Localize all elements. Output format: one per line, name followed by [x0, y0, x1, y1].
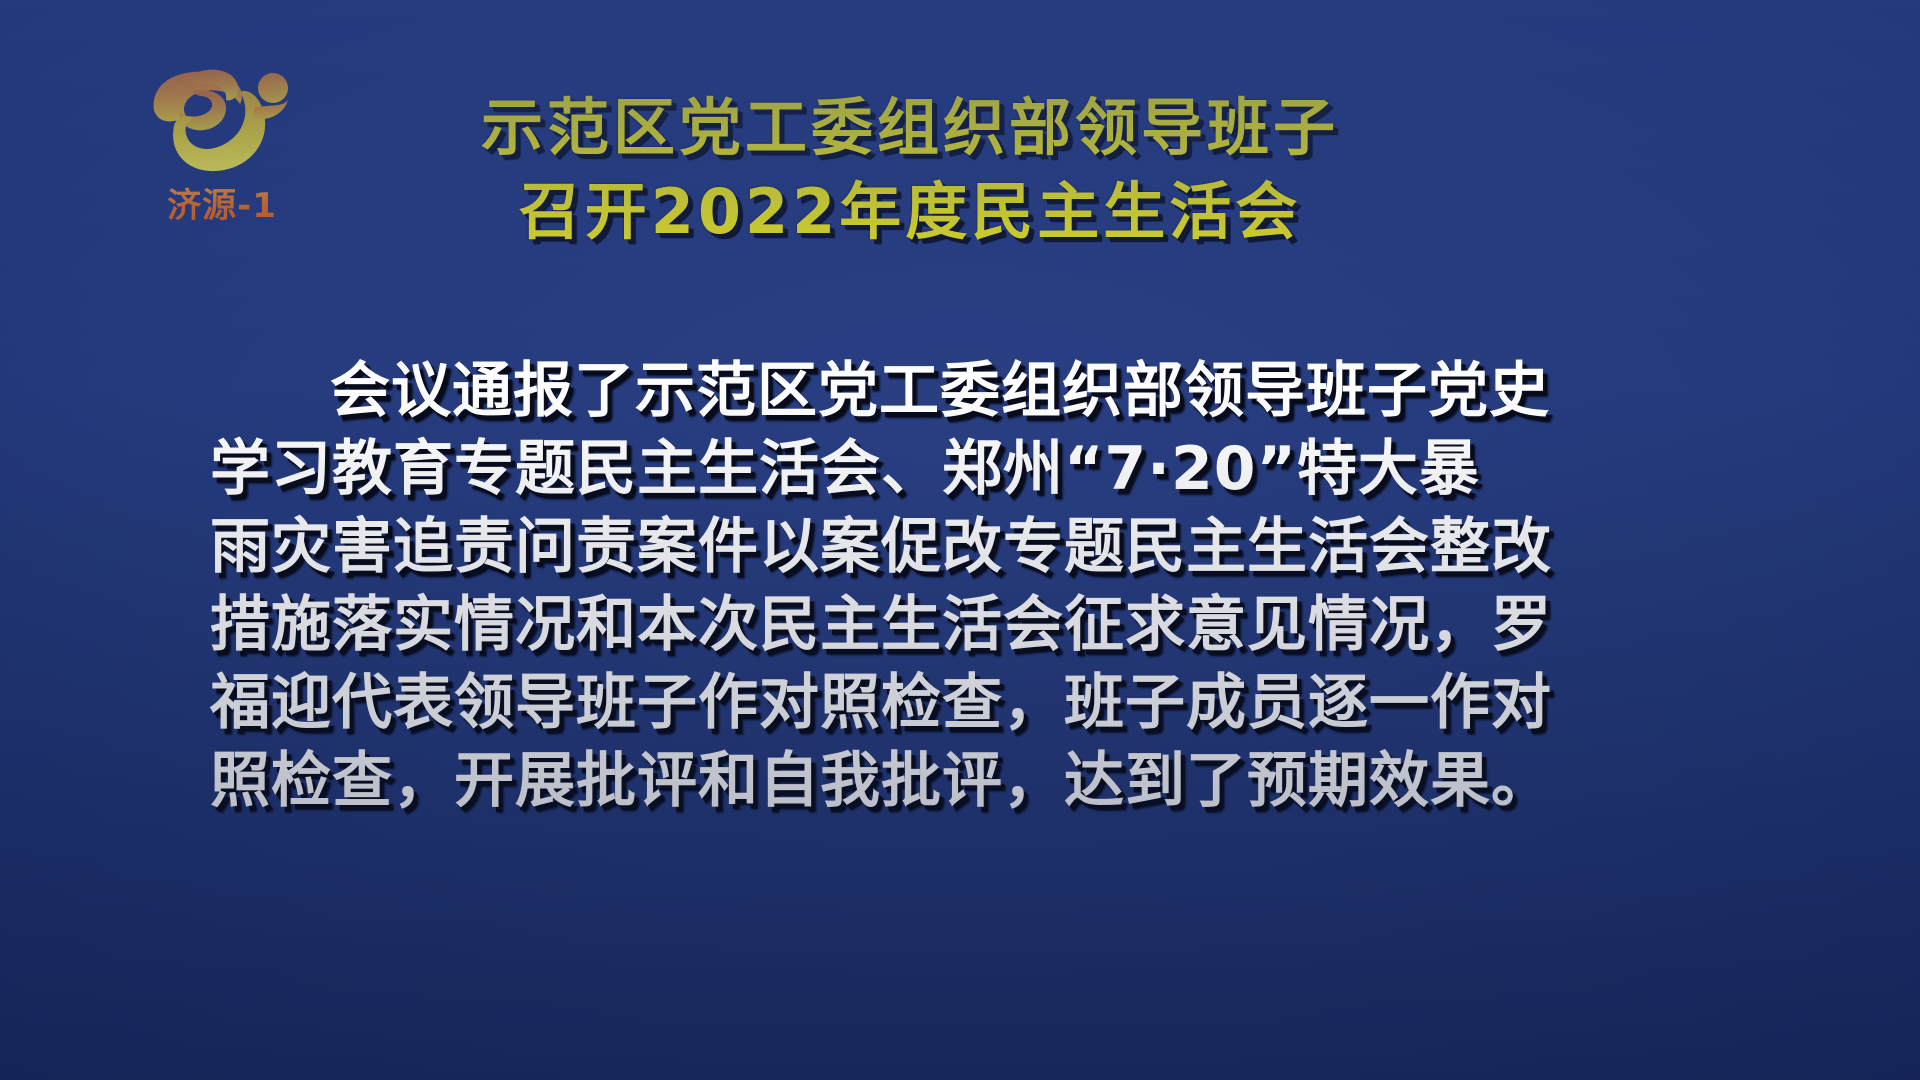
headline-line-1: 示范区党工委组织部领导班子 [330, 86, 1490, 170]
channel-logo: 济源-1 [128, 52, 316, 234]
body-paragraph: 会议通报了示范区党工委组织部领导班子党史 学习教育专题民主生活会、郑州“7·20… [210, 352, 1720, 820]
body-line: 会议通报了示范区党工委组织部领导班子党史 [210, 352, 1720, 430]
channel-logo-text: 济源-1 [128, 178, 316, 227]
headline-line-2: 召开2022年度民主生活会 [330, 170, 1490, 254]
body-line: 措施落实情况和本次民主生活会征求意见情况，罗 [210, 586, 1720, 664]
headline: 示范区党工委组织部领导班子 召开2022年度民主生活会 [330, 86, 1490, 254]
body-line: 照检查，开展批评和自我批评，达到了预期效果。 [210, 742, 1720, 820]
body-line: 福迎代表领导班子作对照检查，班子成员逐一作对 [210, 664, 1720, 742]
broadcast-news-slide: 济源-1 示范区党工委组织部领导班子 召开2022年度民主生活会 会议通报了示范… [0, 0, 1920, 1080]
body-line: 雨灾害追责问责案件以案促改专题民主生活会整改 [210, 508, 1720, 586]
body-line: 学习教育专题民主生活会、郑州“7·20”特大暴 [210, 430, 1720, 508]
swirl-phoenix-mark-icon [134, 52, 310, 184]
